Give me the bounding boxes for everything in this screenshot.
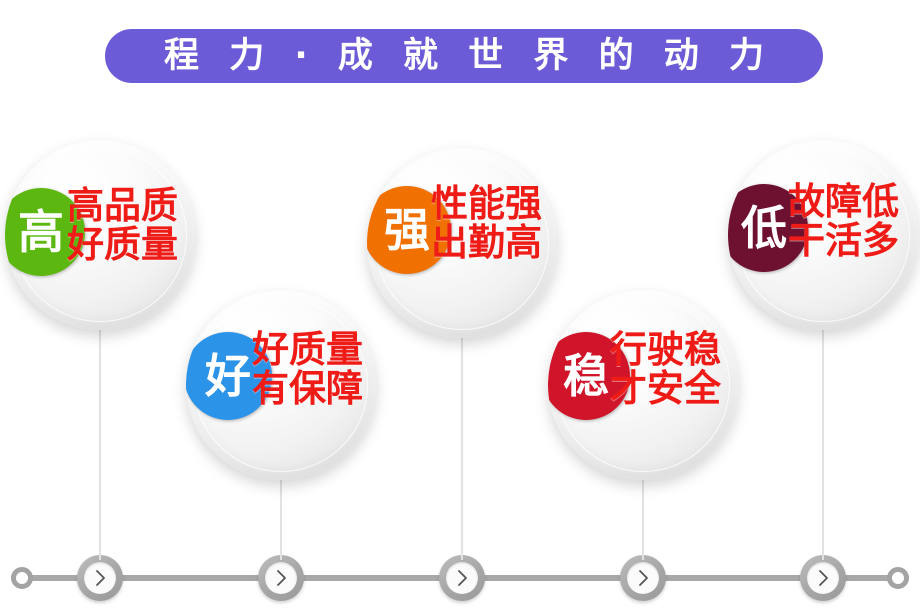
infographic-canvas: 程 力 · 成 就 世 界 的 动 力 <box>0 0 920 616</box>
stem-high-quality <box>99 325 101 560</box>
feature-text-good-quality: 好质量 有保障 <box>252 330 363 408</box>
timeline-end-cap-left <box>11 567 33 589</box>
feature-line-2: 好质量 <box>67 225 178 264</box>
title-banner: 程 力 · 成 就 世 界 的 动 力 <box>105 29 823 83</box>
feature-line-2: 有保障 <box>252 369 363 408</box>
feature-line-2: 才安全 <box>610 369 721 408</box>
feature-line-1: 故障低 <box>788 182 899 221</box>
feature-line-1: 性能强 <box>431 184 542 223</box>
feature-line-1: 高品质 <box>67 186 178 225</box>
feature-card-good-quality[interactable]: 好 好质量 有保障 <box>186 290 376 480</box>
badge-char: 强 <box>384 207 430 253</box>
feature-card-stable-driving[interactable]: 稳 行驶稳 才安全 <box>548 290 738 480</box>
feature-text-low-failure: 故障低 干活多 <box>788 182 899 260</box>
chevron-right-icon <box>439 555 485 601</box>
timeline-node-3[interactable] <box>439 555 485 601</box>
feature-card-high-quality[interactable]: 高 高品质 好质量 <box>5 140 195 330</box>
badge-char: 好 <box>205 353 251 399</box>
feature-line-2: 出勤高 <box>431 223 542 262</box>
chevron-right-icon <box>800 555 846 601</box>
timeline-node-1[interactable] <box>77 555 123 601</box>
chevron-right-icon <box>620 555 666 601</box>
feature-text-strong-performance: 性能强 出勤高 <box>431 184 542 262</box>
timeline-node-4[interactable] <box>620 555 666 601</box>
feature-card-low-failure[interactable]: 低 故障低 干活多 <box>728 140 918 330</box>
stem-strong-performance <box>461 318 463 560</box>
stem-low-failure <box>822 325 824 560</box>
feature-card-strong-performance[interactable]: 强 性能强 出勤高 <box>367 148 557 338</box>
feature-line-1: 好质量 <box>252 330 363 369</box>
chevron-right-icon <box>258 555 304 601</box>
feature-line-1: 行驶稳 <box>610 330 721 369</box>
timeline-end-cap-right <box>887 567 909 589</box>
banner-title: 程 力 · 成 就 世 界 的 动 力 <box>155 39 773 74</box>
badge-char: 低 <box>741 205 787 251</box>
timeline-node-2[interactable] <box>258 555 304 601</box>
badge-char: 高 <box>18 209 64 255</box>
feature-text-stable-driving: 行驶稳 才安全 <box>610 330 721 408</box>
timeline-node-5[interactable] <box>800 555 846 601</box>
chevron-right-icon <box>77 555 123 601</box>
feature-text-high-quality: 高品质 好质量 <box>67 186 178 264</box>
badge-char: 稳 <box>563 353 609 399</box>
feature-line-2: 干活多 <box>788 221 899 260</box>
